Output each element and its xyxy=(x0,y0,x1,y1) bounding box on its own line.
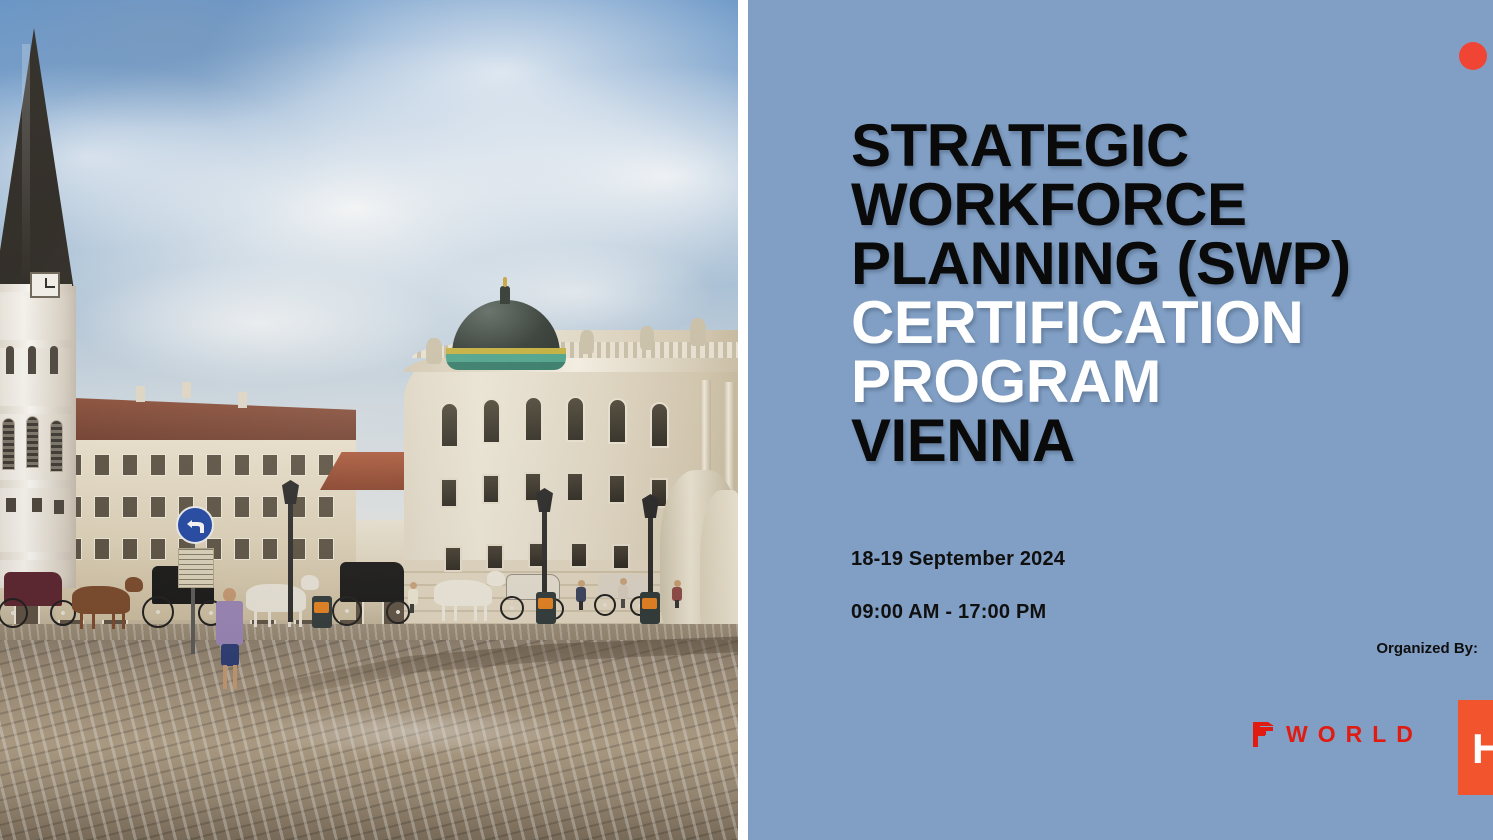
waste-bin xyxy=(536,592,556,624)
horse-white xyxy=(246,584,306,612)
organizer-logos: WORLD HC xyxy=(748,700,1493,795)
title-line-1: STRATEGIC xyxy=(851,116,1471,175)
event-details: 18-19 September 2024 09:00 AM - 17:00 PM xyxy=(851,548,1065,654)
title-line-5: PROGRAM xyxy=(851,352,1471,411)
spire xyxy=(0,28,74,290)
hc-logo[interactable]: HC xyxy=(1458,700,1493,795)
tower-clock xyxy=(30,272,60,298)
red-dot-accent-icon xyxy=(1459,42,1487,70)
pworld-wordmark: WORLD xyxy=(1286,722,1423,747)
vienna-photo xyxy=(0,0,738,840)
content-panel: STRATEGIC WORKFORCE PLANNING (SWP) CERTI… xyxy=(748,0,1493,840)
dome-lantern xyxy=(500,286,510,304)
pedestrian xyxy=(672,580,682,608)
hc-logo-text: HC xyxy=(1472,728,1493,770)
photo-panel-divider xyxy=(738,0,748,840)
pedestrian xyxy=(618,578,628,608)
page-title: STRATEGIC WORKFORCE PLANNING (SWP) CERTI… xyxy=(851,116,1471,470)
title-line-3: PLANNING (SWP) xyxy=(851,234,1471,293)
pworld-logo[interactable]: WORLD xyxy=(1253,722,1423,747)
left-turn-arrow-icon xyxy=(187,520,206,533)
pedestrian xyxy=(214,588,244,694)
title-line-2: WORKFORCE xyxy=(851,175,1471,234)
st-michaels-church-tower xyxy=(0,28,80,588)
title-line-6: VIENNA xyxy=(851,411,1471,470)
pedestrian xyxy=(576,580,586,610)
organized-by-label: Organized By: xyxy=(1376,640,1478,657)
turn-left-sign-icon xyxy=(176,506,214,544)
event-poster: STRATEGIC WORKFORCE PLANNING (SWP) CERTI… xyxy=(0,0,1493,840)
title-line-4: CERTIFICATION xyxy=(851,293,1471,352)
event-dates: 18-19 September 2024 xyxy=(851,548,1065,571)
waste-bin xyxy=(640,592,660,624)
info-plaque xyxy=(178,548,214,588)
dome-green-band xyxy=(446,348,566,370)
event-times: 09:00 AM - 17:00 PM xyxy=(851,601,1065,624)
lamp-post xyxy=(288,500,293,622)
p-flag-mark-icon xyxy=(1253,722,1274,747)
horse xyxy=(72,586,130,614)
fountain-statue-2 xyxy=(700,490,738,640)
horse-white xyxy=(434,580,492,606)
wet-reflection xyxy=(250,706,580,756)
waste-bin xyxy=(312,596,332,628)
pedestrian xyxy=(408,582,418,612)
